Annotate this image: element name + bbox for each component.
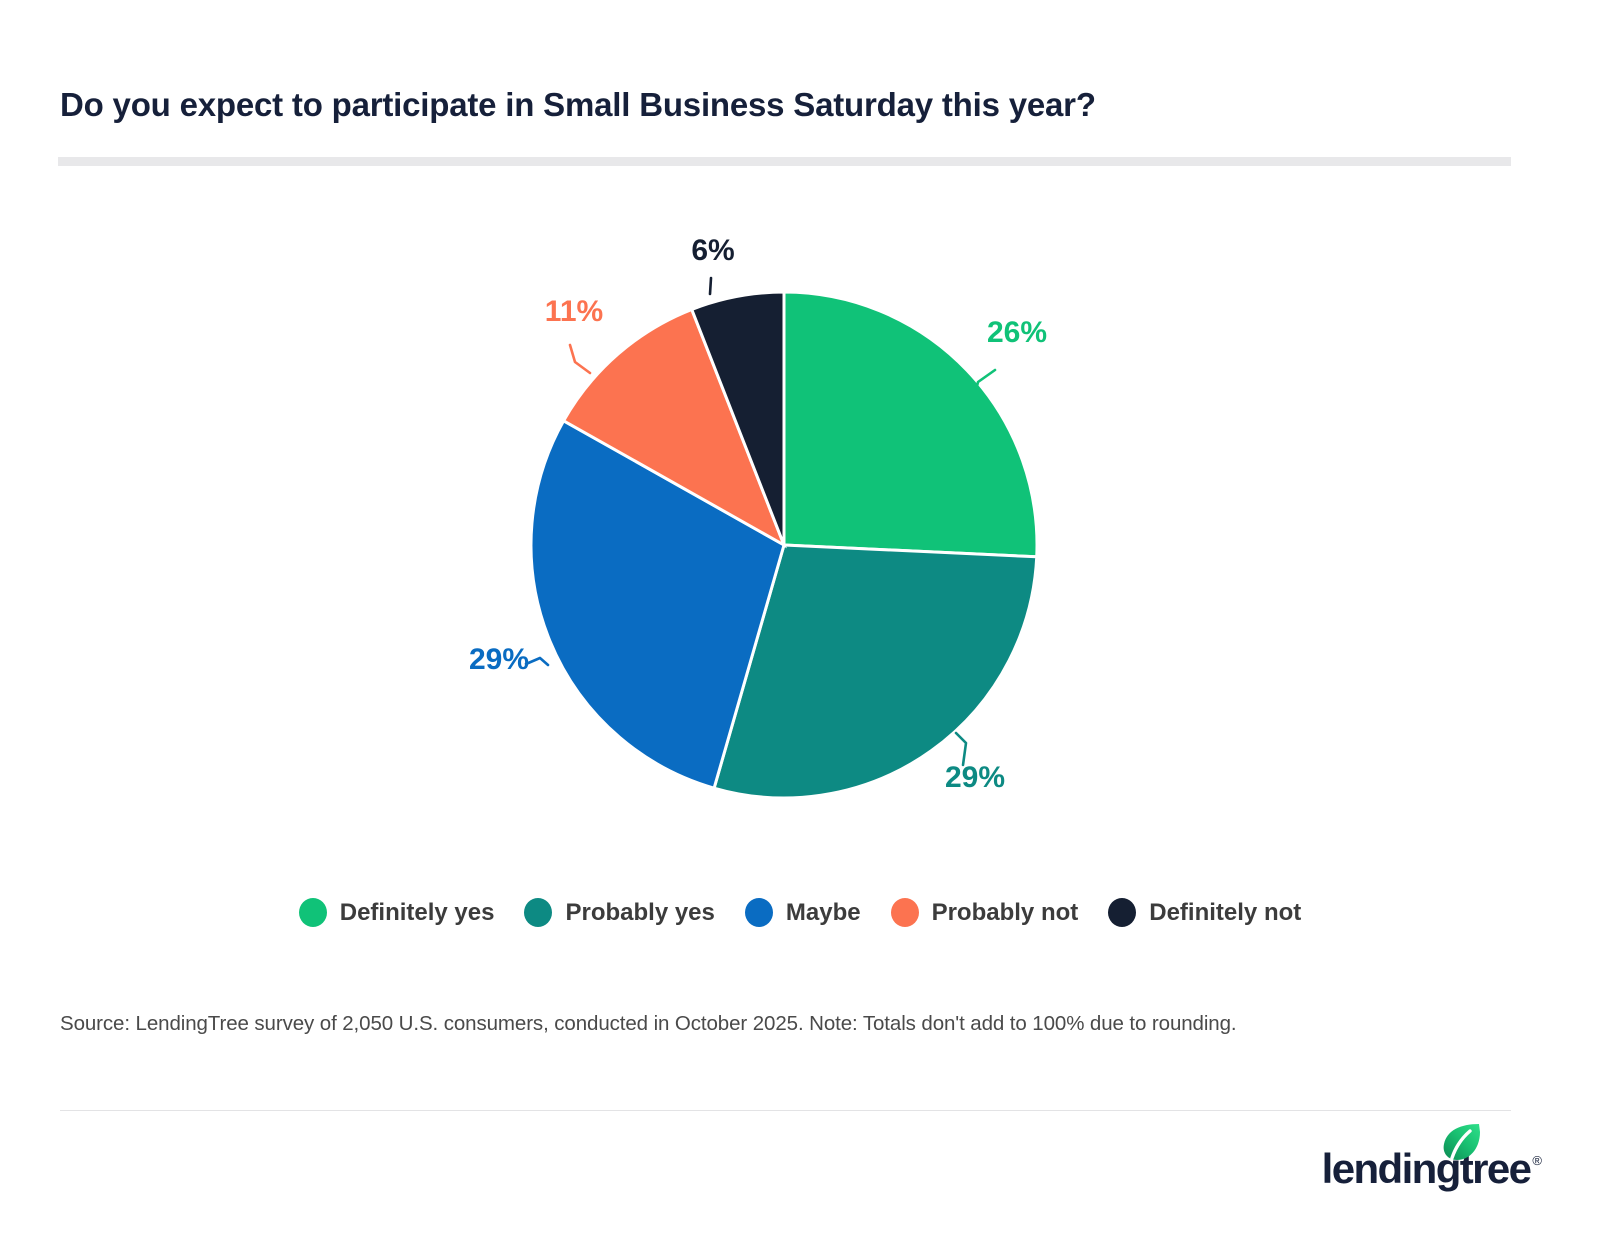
footer-divider bbox=[60, 1110, 1511, 1111]
legend-item[interactable]: Definitely yes bbox=[299, 898, 495, 927]
pie-leader-line bbox=[526, 658, 548, 665]
pie-chart-svg: 26%29%29%11%6% bbox=[0, 190, 1600, 850]
pie-leader-line bbox=[570, 345, 590, 373]
pie-value-label: 6% bbox=[691, 234, 734, 267]
legend-swatch-icon bbox=[745, 898, 773, 927]
pie-value-label: 29% bbox=[469, 643, 529, 676]
legend-item-label: Probably yes bbox=[565, 899, 714, 927]
legend-swatch-icon bbox=[524, 898, 552, 927]
legend-swatch-icon bbox=[299, 898, 327, 927]
chart-page: Do you expect to participate in Small Bu… bbox=[0, 0, 1600, 1254]
pie-value-label: 29% bbox=[945, 761, 1005, 794]
title-divider bbox=[58, 157, 1511, 166]
logo-holder: lendingtree bbox=[1322, 1148, 1531, 1190]
leaf-icon bbox=[1439, 1122, 1483, 1162]
registered-mark: ® bbox=[1532, 1153, 1542, 1168]
page-title: Do you expect to participate in Small Bu… bbox=[60, 86, 1096, 124]
lendingtree-logo: lendingtree ® bbox=[1322, 1148, 1542, 1190]
pie-chart: 26%29%29%11%6% bbox=[0, 190, 1600, 850]
pie-leader-line bbox=[710, 278, 711, 294]
legend-item-label: Definitely yes bbox=[340, 899, 495, 927]
legend-item[interactable]: Probably not bbox=[891, 898, 1079, 927]
pie-slice-group bbox=[531, 292, 1037, 798]
chart-legend: Definitely yesProbably yesMaybeProbably … bbox=[0, 898, 1600, 927]
source-note: Source: LendingTree survey of 2,050 U.S.… bbox=[60, 1012, 1237, 1036]
legend-item[interactable]: Maybe bbox=[745, 898, 861, 927]
legend-item[interactable]: Definitely not bbox=[1108, 898, 1301, 927]
legend-item-label: Maybe bbox=[786, 899, 861, 927]
logo-wordmark: lendingtree bbox=[1322, 1145, 1531, 1192]
legend-swatch-icon bbox=[891, 898, 919, 927]
legend-swatch-icon bbox=[1108, 898, 1136, 927]
pie-value-label: 11% bbox=[545, 295, 603, 328]
legend-item[interactable]: Probably yes bbox=[524, 898, 714, 927]
pie-value-label: 26% bbox=[987, 316, 1047, 349]
legend-item-label: Definitely not bbox=[1149, 899, 1301, 927]
legend-item-label: Probably not bbox=[932, 899, 1079, 927]
